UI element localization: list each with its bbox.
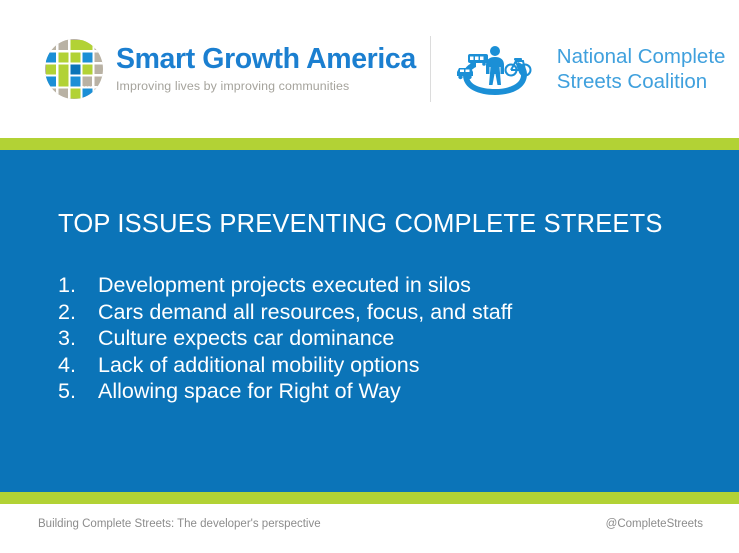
smart-growth-america-tagline: Improving lives by improving communities [116,79,416,93]
logo-row: Smart Growth America Improving lives by … [44,36,725,102]
list-item-number: 1. [58,272,98,299]
issues-list: 1. Development projects executed in silo… [58,272,512,405]
ncsc-title-line-1: National Complete [557,44,726,69]
footer-social-handle: @CompleteStreets [606,518,703,530]
list-item-label: Cars demand all resources, focus, and st… [98,299,512,326]
slide-title: TOP ISSUES PREVENTING COMPLETE STREETS [58,210,663,239]
list-item-label: Lack of additional mobility options [98,352,420,379]
list-item: 4. Lack of additional mobility options [58,352,512,379]
accent-bar-bottom [0,492,739,504]
list-item: 5. Allowing space for Right of Way [58,378,512,405]
smart-growth-america-text: Smart Growth America Improving lives by … [116,45,416,92]
national-complete-streets-text: National Complete Streets Coalition [557,44,726,94]
list-item-number: 5. [58,378,98,405]
list-item-number: 2. [58,299,98,326]
slide-footer: Building Complete Streets: The developer… [0,504,739,553]
smart-growth-america-title: Smart Growth America [116,45,416,74]
list-item-label: Culture expects car dominance [98,325,394,352]
list-item-number: 4. [58,352,98,379]
list-item: 3. Culture expects car dominance [58,325,512,352]
smart-growth-america-logo-icon [44,38,104,100]
list-item: 2. Cars demand all resources, focus, and… [58,299,512,326]
list-item-label: Development projects executed in silos [98,272,471,299]
header-divider [430,36,431,102]
list-item: 1. Development projects executed in silo… [58,272,512,299]
national-complete-streets-logo-icon [449,41,541,97]
ncsc-title-line-2: Streets Coalition [557,69,726,94]
slide-header: Smart Growth America Improving lives by … [0,0,739,138]
list-item-label: Allowing space for Right of Way [98,378,401,405]
list-item-number: 3. [58,325,98,352]
accent-bar-top [0,138,739,150]
footer-presentation-title: Building Complete Streets: The developer… [38,518,321,530]
